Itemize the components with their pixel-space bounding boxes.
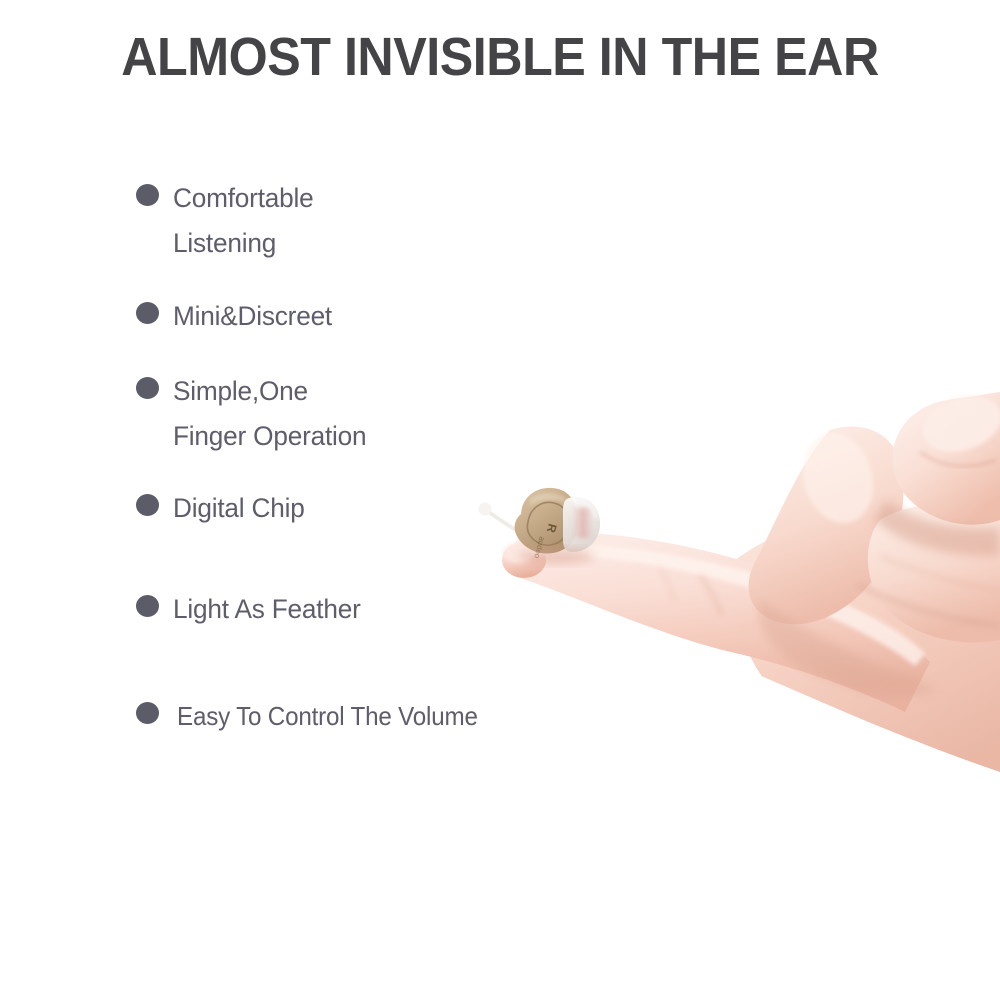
list-item-label: Digital Chip	[173, 486, 305, 531]
finger-crease	[700, 575, 722, 616]
list-item: Easy To Control The Volume	[136, 694, 606, 739]
list-item: Digital Chip	[136, 486, 606, 531]
product-feature-graphic: ALMOST INVISIBLE IN THE EAR Comfortable …	[0, 0, 1000, 1000]
feature-list: Comfortable Listening Mini&Discreet Simp…	[136, 176, 606, 739]
list-item: Simple,One Finger Operation	[136, 369, 606, 459]
list-item-label: Easy To Control The Volume	[177, 694, 478, 739]
palm-shadow	[758, 600, 940, 696]
list-item-label: Simple,One Finger Operation	[173, 369, 366, 459]
middle-knuckle-highlight	[793, 424, 884, 531]
list-item: Mini&Discreet	[136, 294, 606, 339]
bullet-dot-icon	[136, 494, 159, 516]
list-item-label: Mini&Discreet	[173, 294, 332, 339]
palm-crease-2	[880, 556, 1000, 590]
list-item: Comfortable Listening	[136, 176, 606, 266]
middle-finger-folded	[749, 427, 904, 625]
thumbnail	[916, 387, 1000, 461]
thumb	[892, 392, 1000, 525]
palm-crease	[856, 584, 1000, 626]
thumb-finger-shadow	[874, 500, 1000, 556]
list-item: Light As Feather	[136, 587, 606, 632]
list-item-label: Light As Feather	[173, 587, 361, 632]
ring-finger-folded	[868, 504, 1000, 642]
list-item-label: Comfortable Listening	[173, 176, 314, 266]
hand-palm	[734, 510, 1000, 800]
finger-crease-2	[660, 568, 676, 602]
bullet-dot-icon	[136, 184, 159, 206]
bullet-dot-icon	[136, 702, 159, 724]
bullet-dot-icon	[136, 302, 159, 324]
hand-lower-edge	[700, 652, 1000, 1000]
bullet-dot-icon	[136, 377, 159, 399]
page-title: ALMOST INVISIBLE IN THE EAR	[35, 26, 965, 88]
bullet-dot-icon	[136, 595, 159, 617]
thumbnail-edge	[920, 452, 996, 466]
